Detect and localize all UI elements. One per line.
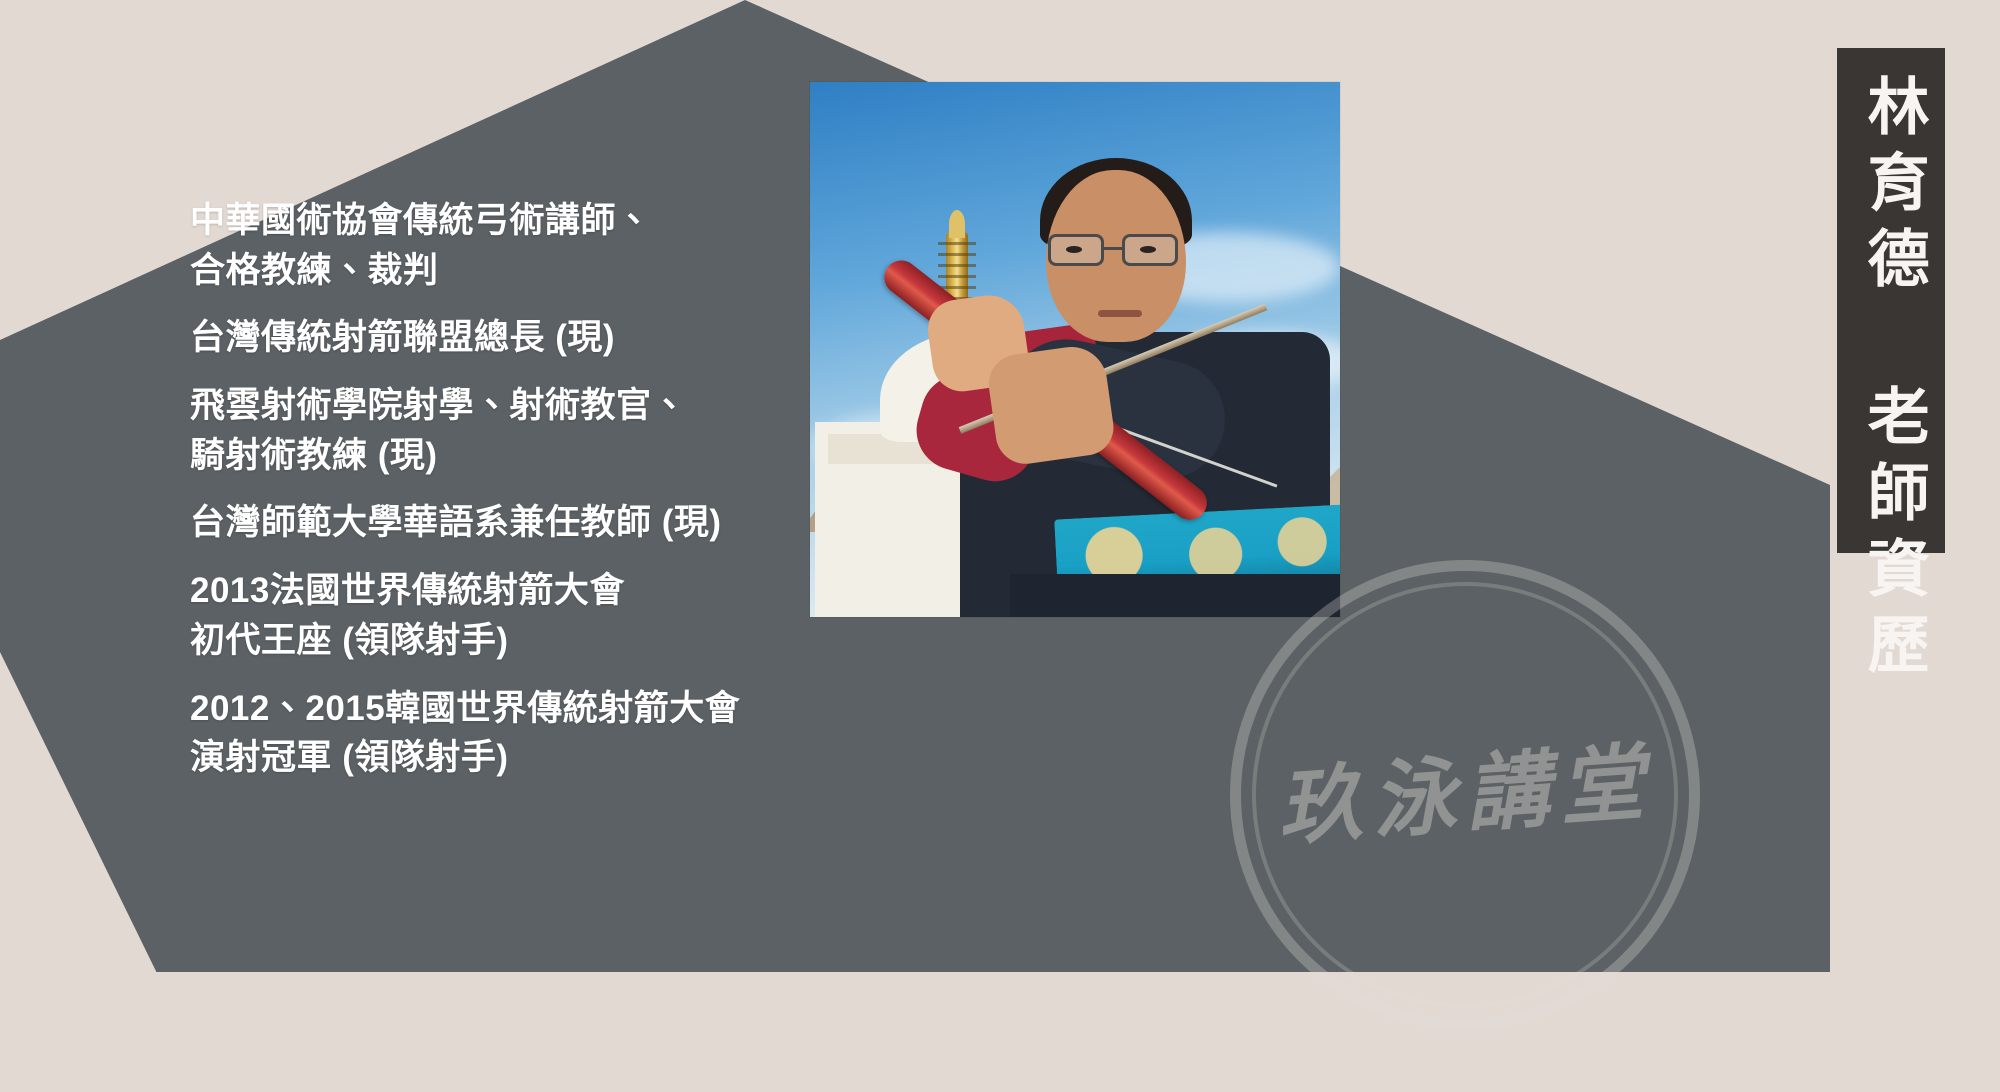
background-beige-bottom-strip (0, 972, 2000, 1092)
glasses-icon (1048, 234, 1188, 268)
resume-list: 中華國術協會傳統弓術講師、 合格教練、裁判 台灣傳統射箭聯盟總長 (現) 飛雲射… (190, 196, 810, 801)
slide-root: 中華國術協會傳統弓術講師、 合格教練、裁判 台灣傳統射箭聯盟總長 (現) 飛雲射… (0, 0, 2000, 1092)
resume-entry: 2012、2015韓國世界傳統射箭大會 演射冠軍 (領隊射手) (190, 684, 810, 783)
photo-archer-mouth (1098, 310, 1142, 317)
instructor-photo (810, 82, 1340, 617)
photo-stupa-tip (949, 210, 965, 238)
photo-archer-lower-robe (1010, 574, 1340, 617)
resume-entry: 2013法國世界傳統射箭大會 初代王座 (領隊射手) (190, 566, 810, 665)
vertical-title-panel: 林育德 老師資歷 (1837, 48, 1945, 553)
resume-entry: 飛雲射術學院射學、射術教官、 騎射術教練 (現) (190, 381, 810, 480)
resume-entry: 台灣傳統射箭聯盟總長 (現) (190, 313, 810, 363)
photo-archer-hand-front (985, 342, 1117, 467)
page-title: 林育德 老師資歷 (1859, 74, 1922, 688)
photo-glasses-bridge (1104, 247, 1124, 250)
resume-entry: 台灣師範大學華語系兼任教師 (現) (190, 498, 810, 548)
photo-archer-eye-right (1140, 246, 1156, 253)
photo-archer-eye-left (1066, 246, 1082, 253)
resume-entry: 中華國術協會傳統弓術講師、 合格教練、裁判 (190, 196, 810, 295)
